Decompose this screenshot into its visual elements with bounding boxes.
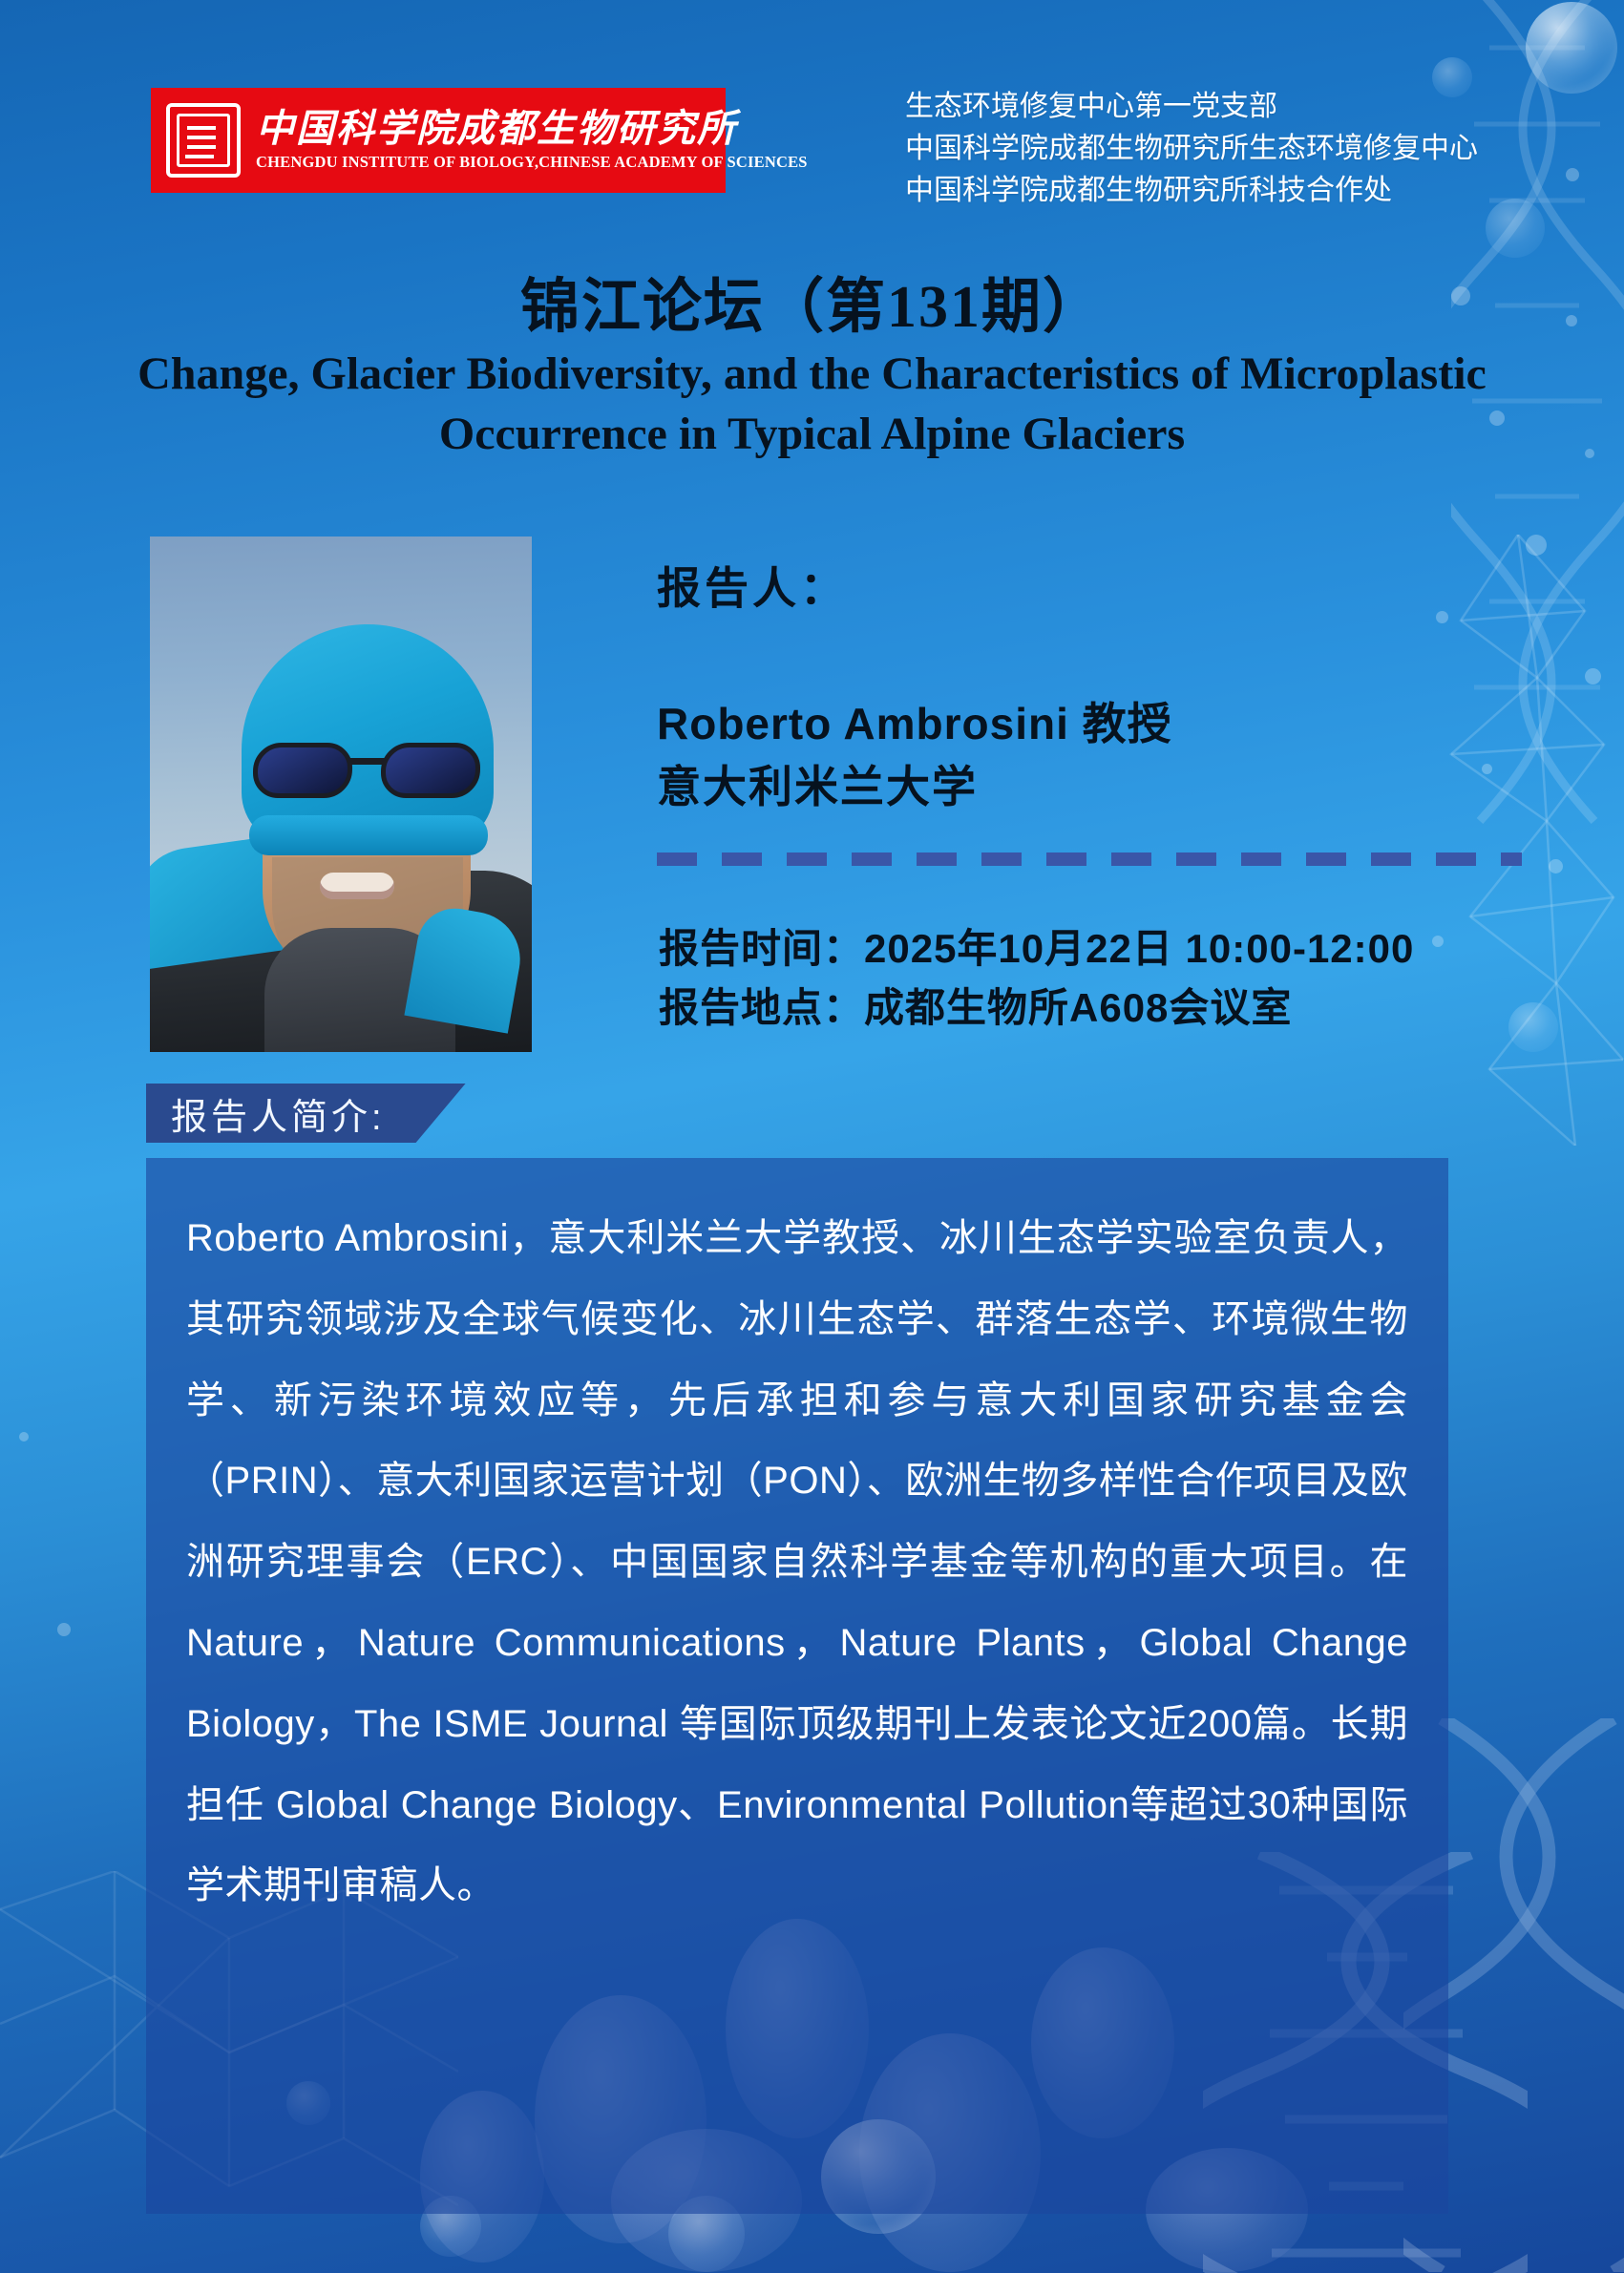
photo-lens-right	[381, 743, 480, 798]
wireframe-network-icon	[1432, 535, 1624, 1146]
organizer-list: 生态环境修复中心第一党支部 中国科学院成都生物研究所生态环境修复中心 中国科学院…	[905, 86, 1478, 211]
seal-stamp-icon	[166, 103, 241, 178]
bio-text: Roberto Ambrosini，意大利米兰大学教授、冰川生态学实验室负责人，…	[186, 1198, 1408, 1926]
institute-logo: 中国科学院成都生物研究所 CHENGDU INSTITUTE OF BIOLOG…	[151, 88, 726, 193]
event-location: 报告地点：成都生物所A608会议室	[659, 976, 1292, 1034]
speaker-name: Roberto Ambrosini 教授	[657, 695, 1172, 753]
bio-panel: Roberto Ambrosini，意大利米兰大学教授、冰川生态学实验室负责人，…	[146, 1158, 1448, 2214]
bio-section-tab: 报告人简介:	[146, 1084, 466, 1143]
organizer-line-2: 中国科学院成都生物研究所生态环境修复中心	[905, 128, 1478, 170]
forum-title-chinese: 锦江论坛（第131期）	[0, 258, 1624, 344]
logo-chinese-name: 中国科学院成都生物研究所	[256, 110, 808, 148]
logo-english-name: CHENGDU INSTITUTE OF BIOLOGY,CHINESE ACA…	[256, 155, 808, 171]
organizer-line-1: 生态环境修复中心第一党支部	[905, 86, 1478, 128]
speaker-affiliation: 意大利米兰大学	[657, 752, 978, 815]
speaker-photo	[150, 537, 532, 1052]
event-time: 报告时间：2025年10月22日 10:00-12:00	[659, 916, 1414, 975]
seminar-poster: 中国科学院成都生物研究所 CHENGDU INSTITUTE OF BIOLOG…	[0, 0, 1624, 2273]
photo-mouth	[320, 873, 394, 899]
dashed-divider	[657, 852, 1522, 866]
photo-lens-left	[253, 743, 352, 798]
photo-sunglasses	[253, 741, 480, 804]
organizer-line-3: 中国科学院成都生物研究所科技合作处	[905, 170, 1478, 212]
photo-glasses-bridge	[350, 758, 385, 765]
speaker-label: 报告人：	[657, 554, 848, 617]
forum-title-english: Change, Glacier Biodiversity, and the Ch…	[0, 344, 1624, 465]
